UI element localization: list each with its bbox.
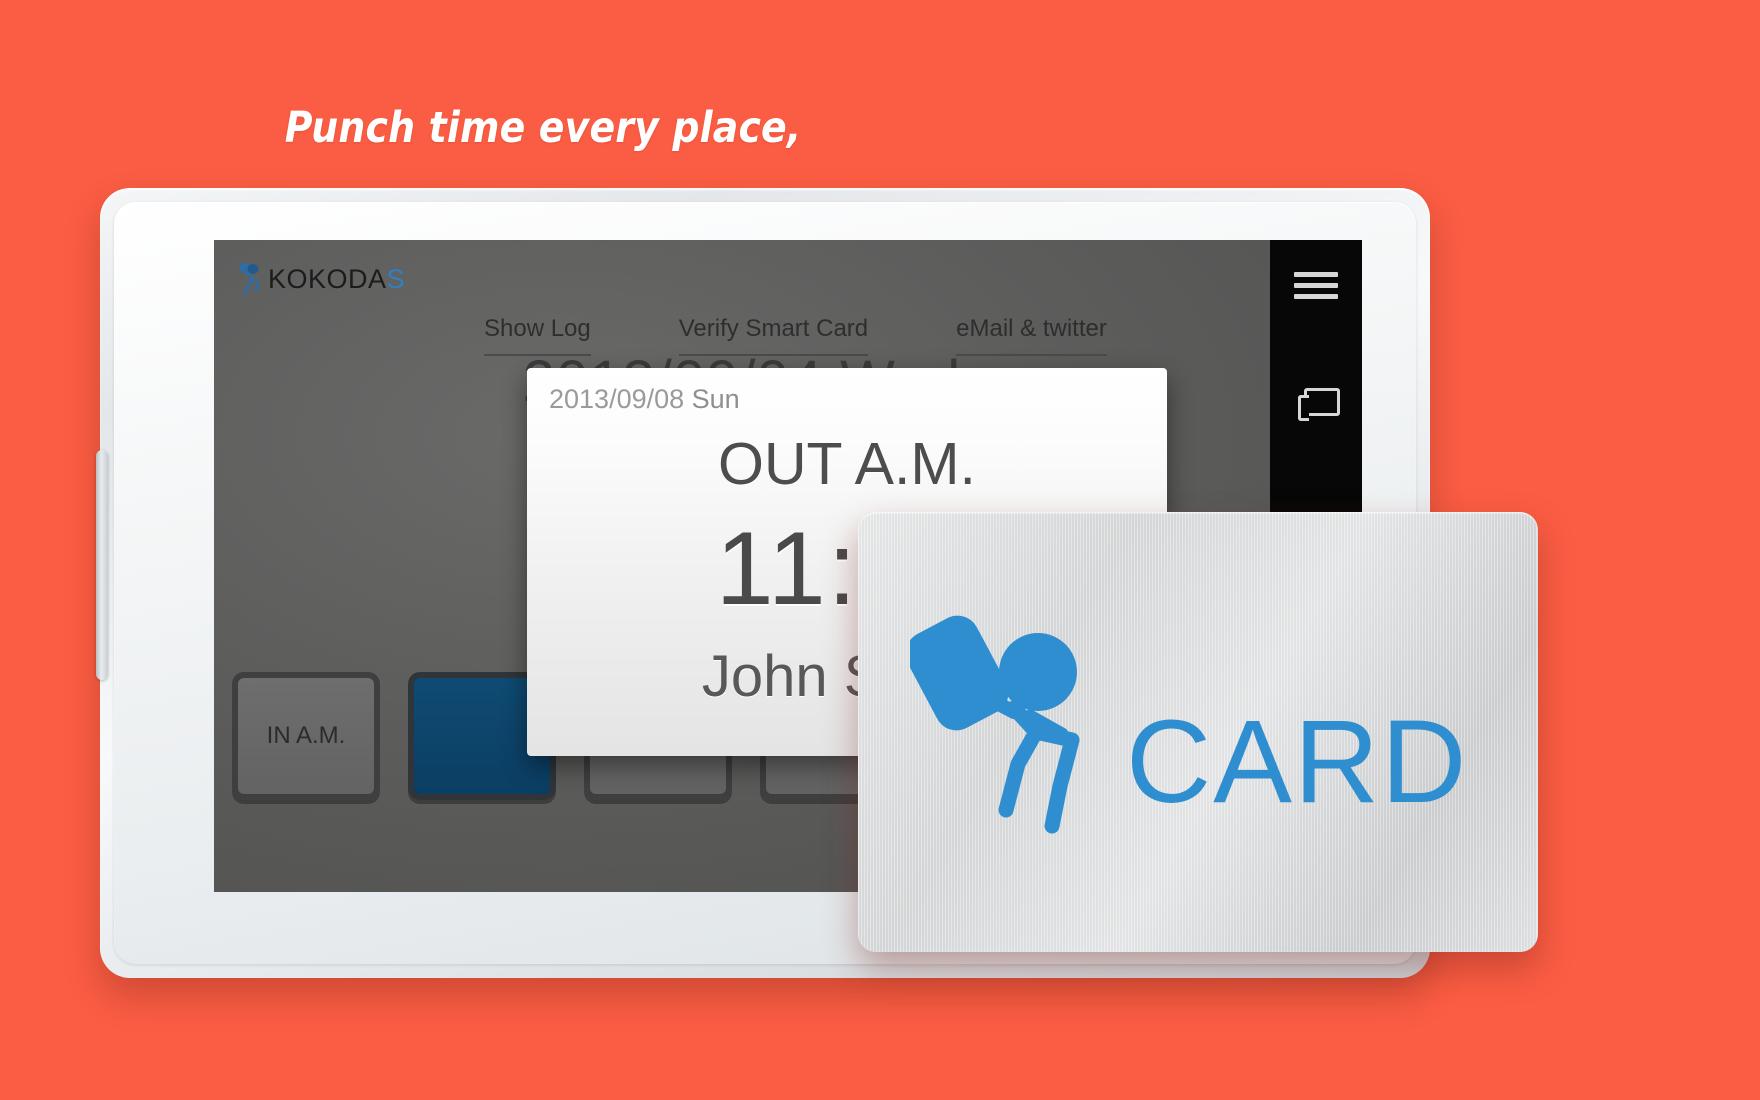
recent-apps-icon[interactable] <box>1298 388 1336 418</box>
dialog-date: 2013/09/08 Sun <box>549 384 740 415</box>
punch-button-in-am[interactable]: IN A.M. <box>232 672 380 800</box>
app-logo-accent: S <box>387 264 406 294</box>
smart-card: CARD <box>858 512 1538 952</box>
volume-button[interactable] <box>96 450 108 680</box>
promo-headline-line1: Punch time every place, <box>285 103 802 153</box>
dialog-date-value: 2013/09/08 <box>549 384 684 414</box>
punch-button-in-am-label: IN A.M. <box>267 722 346 750</box>
app-logo-name: KOKODA <box>268 264 387 294</box>
card-label: CARD <box>1126 694 1468 830</box>
app-logo: KOKODAS <box>236 262 405 296</box>
menu-icon[interactable] <box>1294 272 1338 302</box>
card-running-person-icon <box>910 604 1120 834</box>
dialog-punch-type: OUT A.M. <box>527 430 1167 498</box>
app-logo-text: KOKODAS <box>268 264 405 295</box>
dialog-weekday: Sun <box>692 384 740 414</box>
running-person-icon <box>236 262 264 296</box>
